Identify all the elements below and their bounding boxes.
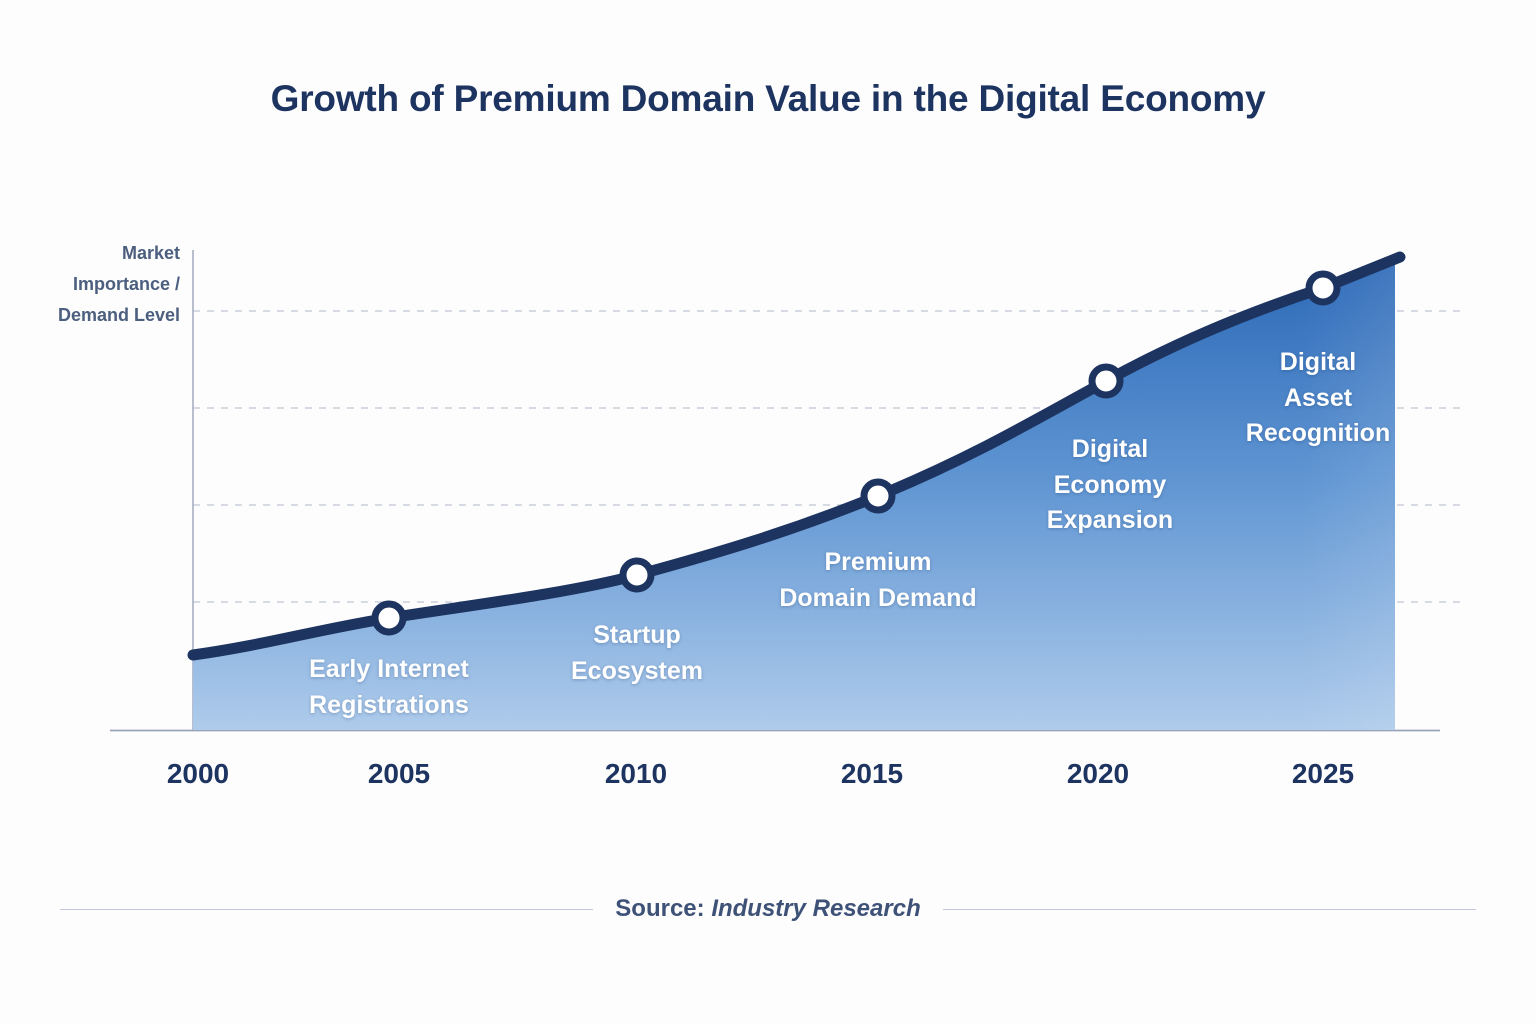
x-tick-2005: 2005 — [339, 758, 459, 790]
x-tick-2010: 2010 — [576, 758, 696, 790]
data-point-marker[interactable] — [623, 561, 651, 589]
data-point-marker[interactable] — [864, 482, 892, 510]
data-point-marker[interactable] — [375, 604, 403, 632]
x-tick-2015: 2015 — [812, 758, 932, 790]
x-tick-2000: 2000 — [138, 758, 258, 790]
plot-area — [0, 0, 1536, 1024]
data-point-marker[interactable] — [1092, 367, 1120, 395]
source-label: Source: — [615, 895, 704, 922]
source-rule-left — [60, 909, 593, 910]
source-value: Industry Research — [711, 895, 920, 922]
data-point-marker[interactable] — [1309, 274, 1337, 302]
source-text: Source: Industry Research — [615, 895, 920, 923]
chart-canvas: Growth of Premium Domain Value in the Di… — [0, 0, 1536, 1024]
x-tick-2020: 2020 — [1038, 758, 1158, 790]
x-tick-2025: 2025 — [1263, 758, 1383, 790]
source-footer: Source: Industry Research — [60, 888, 1476, 930]
source-rule-right — [943, 909, 1476, 910]
